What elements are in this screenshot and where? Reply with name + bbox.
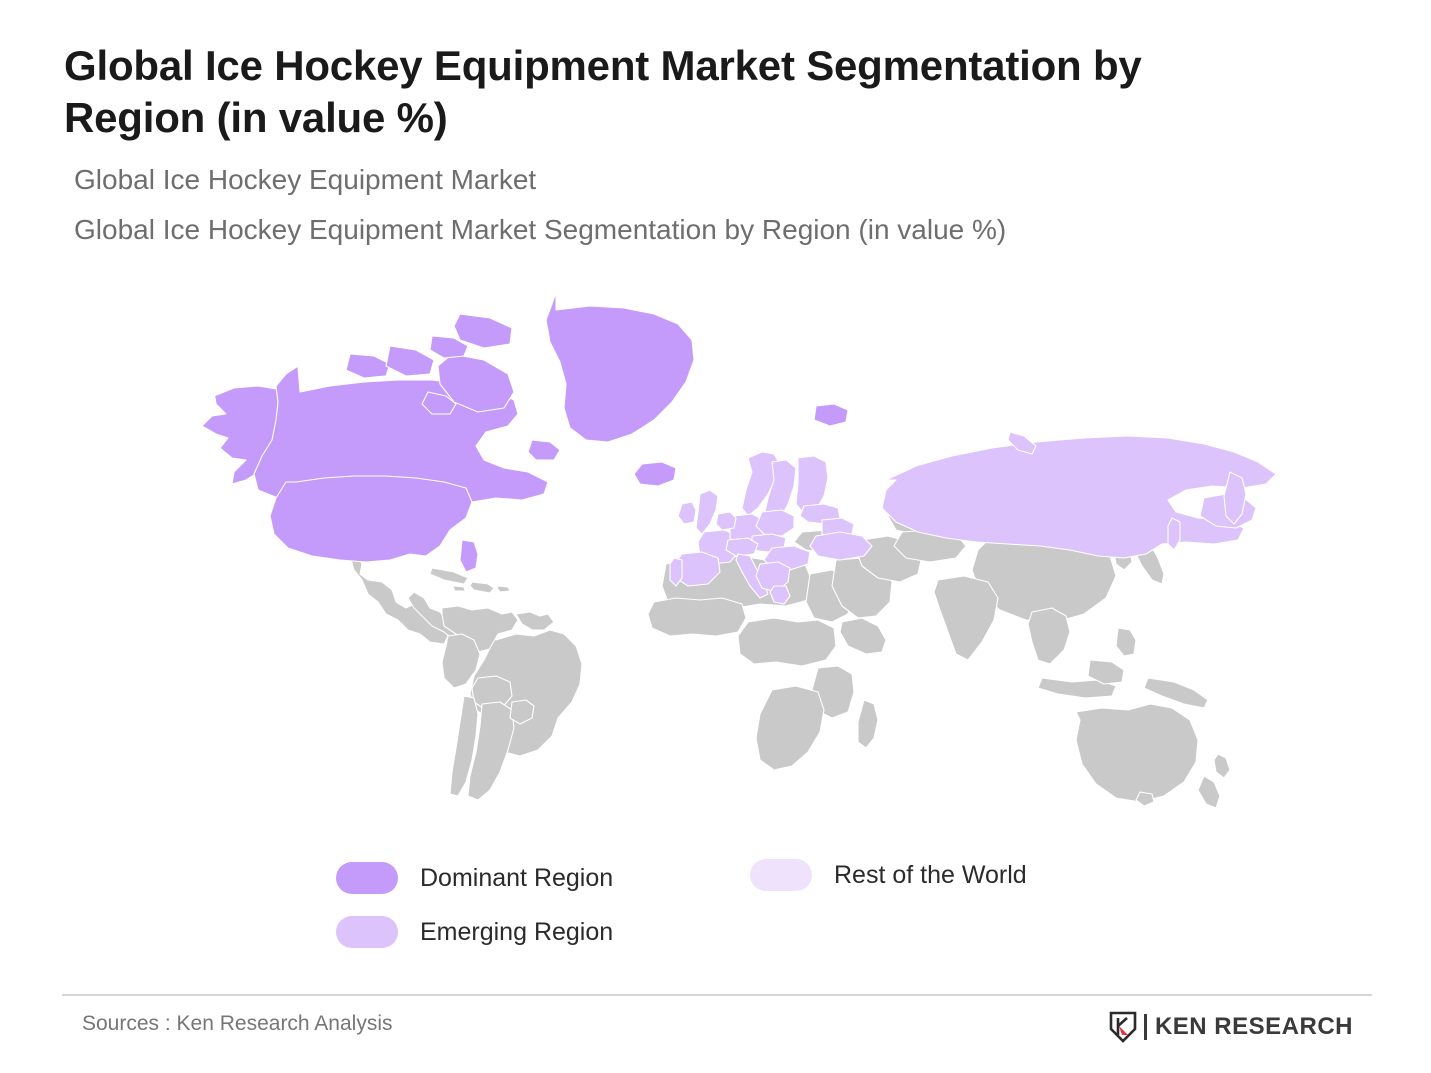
country-iceland — [634, 462, 676, 486]
country-guyanas — [516, 612, 554, 630]
legend-swatch-emerging-region — [336, 916, 398, 948]
country-jamaica — [453, 586, 465, 591]
country-new-zealand-south — [1198, 776, 1220, 808]
country-ukraine — [810, 532, 872, 560]
country-central-africa — [738, 618, 836, 666]
island-svalbard — [814, 404, 848, 426]
country-new-guinea — [1144, 678, 1208, 708]
region-florida — [460, 540, 478, 572]
country-australia — [1076, 704, 1198, 802]
country-southeast-asia — [1028, 608, 1070, 664]
slide-root: Global Ice Hockey Equipment Market Segme… — [0, 0, 1431, 1073]
country-united-states — [270, 476, 472, 562]
country-puerto-rico — [497, 586, 510, 592]
country-poland — [756, 510, 794, 536]
brand-name-text: KEN RESEARCH — [1155, 1015, 1353, 1039]
country-philippines — [1116, 628, 1136, 656]
subtitle-market-name: Global Ice Hockey Equipment Market — [74, 162, 1384, 198]
world-map-svg — [196, 292, 1286, 837]
country-united-kingdom — [696, 490, 718, 534]
country-sakhalin — [1168, 518, 1180, 550]
country-southern-africa — [756, 686, 824, 770]
header: Global Ice Hockey Equipment Market Segme… — [64, 40, 1384, 248]
footer-divider — [62, 994, 1372, 996]
country-austria-switzerland — [726, 538, 758, 556]
country-tasmania — [1136, 792, 1154, 806]
legend-item-emerging-region[interactable]: Emerging Region — [336, 916, 613, 948]
country-new-zealand — [1214, 754, 1230, 778]
country-india — [934, 576, 998, 660]
brand-divider-bar — [1144, 1014, 1147, 1040]
subtitle-chart-name: Global Ice Hockey Equipment Market Segme… — [74, 212, 1384, 248]
country-cuba — [430, 568, 468, 584]
island-newfoundland — [528, 440, 560, 460]
footer-source-text: Sources : Ken Research Analysis — [82, 1012, 393, 1036]
country-west-africa — [648, 598, 746, 636]
brand-logo: KEN RESEARCH — [1109, 1010, 1353, 1044]
map-legend: Dominant Region Emerging Region Rest of … — [336, 862, 1096, 966]
island-victoria — [386, 346, 434, 376]
page-title: Global Ice Hockey Equipment Market Segme… — [64, 40, 1294, 144]
legend-item-dominant-region[interactable]: Dominant Region — [336, 862, 613, 894]
country-madagascar — [858, 700, 878, 748]
country-hispaniola — [470, 582, 494, 593]
country-horn-of-africa — [840, 618, 886, 654]
ken-research-shield-icon — [1109, 1011, 1137, 1043]
legend-label-emerging-region: Emerging Region — [420, 918, 613, 947]
legend-label-dominant-region: Dominant Region — [420, 864, 613, 893]
legend-item-rest-of-the-world[interactable]: Rest of the World — [750, 859, 1027, 891]
legend-swatch-rest-of-the-world — [750, 859, 812, 891]
legend-swatch-dominant-region — [336, 862, 398, 894]
world-map — [196, 292, 1286, 837]
legend-label-rest-of-the-world: Rest of the World — [834, 861, 1027, 890]
country-benelux — [716, 512, 736, 530]
country-greenland — [546, 292, 694, 442]
island-banks — [346, 354, 390, 378]
country-ireland — [678, 502, 696, 524]
